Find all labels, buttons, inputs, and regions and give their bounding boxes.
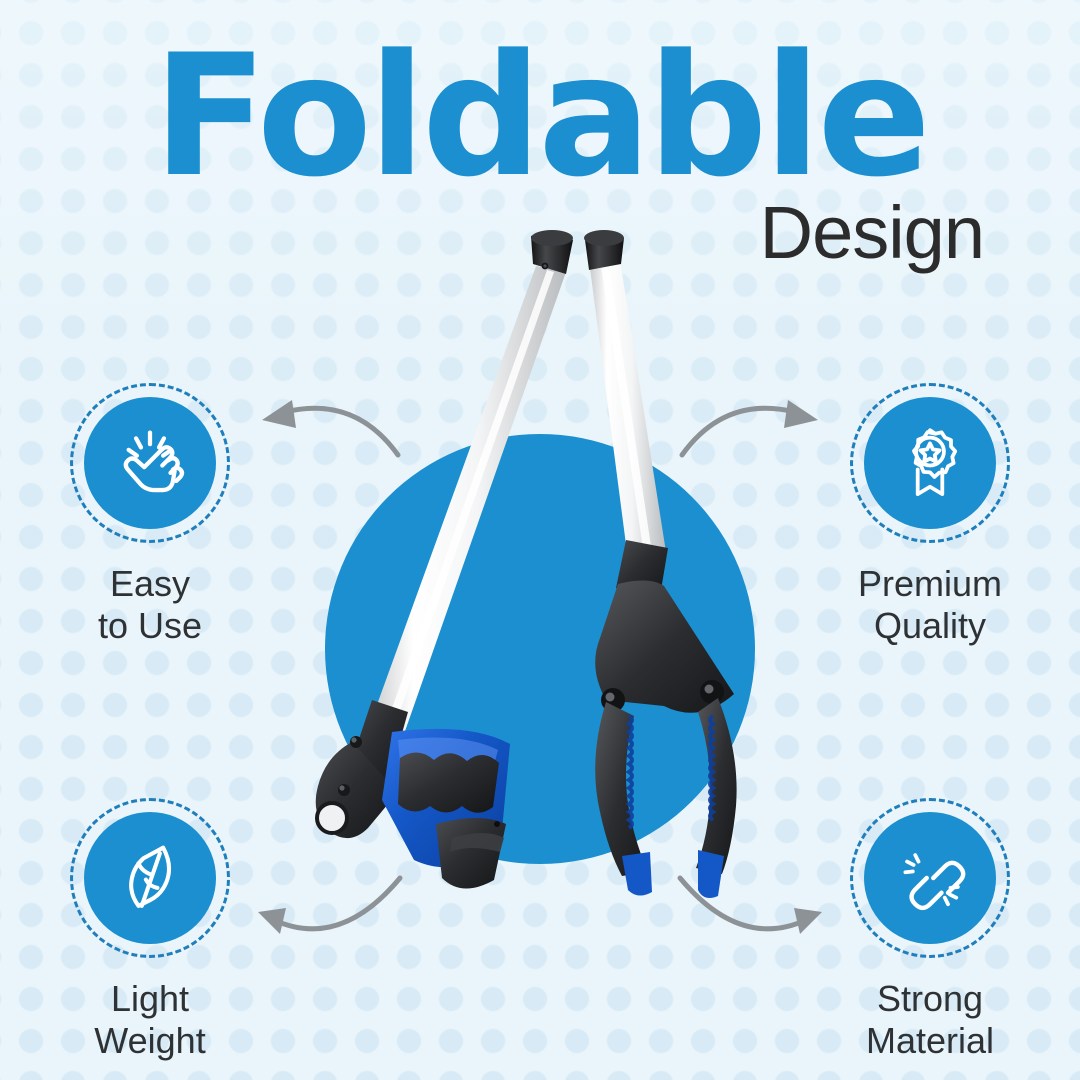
feature-light-weight[interactable]: Light Weight <box>30 798 270 1063</box>
feature-label: Light Weight <box>30 978 270 1063</box>
icon-disc <box>84 397 216 529</box>
product-handle-assembly <box>316 700 510 889</box>
icon-disc <box>864 812 996 944</box>
feature-strong-material[interactable]: Strong Material <box>810 798 1050 1063</box>
feature-icon-wrap-easy-to-use <box>70 383 230 543</box>
feature-premium-quality[interactable]: Premium Quality <box>810 383 1050 648</box>
feature-icon-wrap-premium-quality <box>850 383 1010 543</box>
feature-easy-to-use[interactable]: Easy to Use <box>30 383 270 648</box>
feature-label: Easy to Use <box>30 563 270 648</box>
product-right-arm <box>584 230 666 560</box>
product-claw-jaws <box>595 540 736 898</box>
feature-label: Strong Material <box>810 978 1050 1063</box>
chain-link-icon <box>889 837 971 919</box>
feature-icon-wrap-light-weight <box>70 798 230 958</box>
product-left-arm <box>370 230 573 734</box>
award-ribbon-icon <box>889 422 971 504</box>
hand-tap-icon <box>109 422 191 504</box>
feature-icon-wrap-strong-material <box>850 798 1010 958</box>
infographic-page: Foldable Design <box>0 0 1080 1080</box>
feather-icon <box>109 837 191 919</box>
icon-disc <box>864 397 996 529</box>
icon-disc <box>84 812 216 944</box>
feature-label: Premium Quality <box>810 563 1050 648</box>
